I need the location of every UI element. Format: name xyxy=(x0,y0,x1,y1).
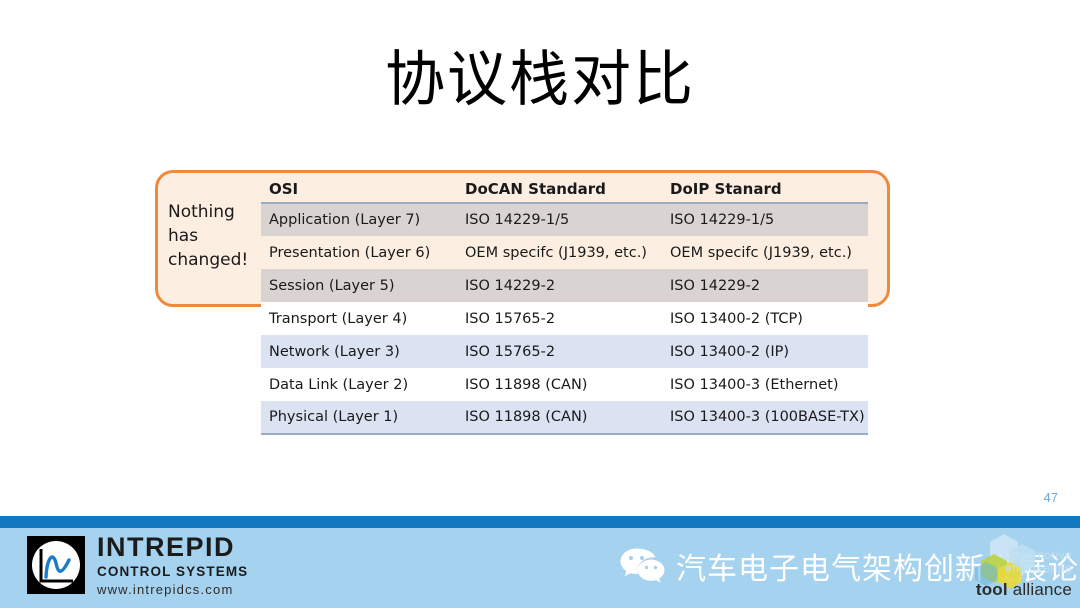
intrepid-website-url: www.intrepidcs.com xyxy=(97,583,248,596)
cell-doip: ISO 14229-1/5 xyxy=(662,203,868,236)
cell-osi: Session (Layer 5) xyxy=(261,269,457,302)
table-row: Session (Layer 5) ISO 14229-2 ISO 14229-… xyxy=(261,269,868,302)
column-header-doip: DoIP Stanard xyxy=(662,176,868,203)
cell-docan: ISO 11898 (CAN) xyxy=(457,368,662,401)
cell-docan: OEM specifc (J1939, etc.) xyxy=(457,236,662,269)
tool-alliance-tagline-line2: engineering xyxy=(1005,563,1072,576)
cell-docan: ISO 14229-1/5 xyxy=(457,203,662,236)
cell-doip: ISO 13400-3 (Ethernet) xyxy=(662,368,868,401)
highlight-note-text: Nothing has changed! xyxy=(168,200,264,272)
cell-docan: ISO 15765-2 xyxy=(457,335,662,368)
table-header-row: OSI DoCAN Standard DoIP Stanard xyxy=(261,176,868,203)
wechat-icon xyxy=(618,546,666,586)
table-row: Transport (Layer 4) ISO 15765-2 ISO 1340… xyxy=(261,302,868,335)
intrepid-brand-subtitle: CONTROL SYSTEMS xyxy=(97,565,248,579)
tool-alliance-name: tool alliance xyxy=(976,580,1072,600)
cell-osi: Transport (Layer 4) xyxy=(261,302,457,335)
cell-docan: ISO 14229-2 xyxy=(457,269,662,302)
cell-doip: ISO 13400-2 (IP) xyxy=(662,335,868,368)
cell-docan: ISO 11898 (CAN) xyxy=(457,401,662,434)
footer-band: INTREPID CONTROL SYSTEMS www.intrepidcs.… xyxy=(0,528,1080,608)
table-row: Presentation (Layer 6) OEM specifc (J193… xyxy=(261,236,868,269)
intrepid-brand-name: INTREPID xyxy=(97,534,248,561)
column-header-docan: DoCAN Standard xyxy=(457,176,662,203)
table-row: Application (Layer 7) ISO 14229-1/5 ISO … xyxy=(261,203,868,236)
table-row: Physical (Layer 1) ISO 11898 (CAN) ISO 1… xyxy=(261,401,868,434)
footer-divider-bar xyxy=(0,516,1080,528)
page-number: 47 xyxy=(1044,490,1058,505)
cell-osi: Network (Layer 3) xyxy=(261,335,457,368)
cell-doip: OEM specifc (J1939, etc.) xyxy=(662,236,868,269)
tool-alliance-tagline-line1: automotive xyxy=(1005,550,1072,563)
intrepid-waveform-icon xyxy=(27,536,85,594)
cell-doip: ISO 14229-2 xyxy=(662,269,868,302)
tool-alliance-name-rest: alliance xyxy=(1008,580,1072,599)
tool-alliance-logo: automotive engineering tool alliance xyxy=(934,532,1074,606)
column-header-osi: OSI xyxy=(261,176,457,203)
cell-osi: Physical (Layer 1) xyxy=(261,401,457,434)
tool-alliance-tagline: automotive engineering xyxy=(1005,550,1072,576)
protocol-stack-comparison-table: OSI DoCAN Standard DoIP Stanard Applicat… xyxy=(261,176,868,435)
cell-osi: Application (Layer 7) xyxy=(261,203,457,236)
cell-osi: Presentation (Layer 6) xyxy=(261,236,457,269)
intrepid-wordmark: INTREPID CONTROL SYSTEMS www.intrepidcs.… xyxy=(97,534,248,596)
tool-alliance-name-bold: tool xyxy=(976,580,1008,599)
cell-doip: ISO 13400-2 (TCP) xyxy=(662,302,868,335)
table-row: Network (Layer 3) ISO 15765-2 ISO 13400-… xyxy=(261,335,868,368)
page-title: 协议栈对比 xyxy=(0,44,1080,116)
cell-docan: ISO 15765-2 xyxy=(457,302,662,335)
cell-doip: ISO 13400-3 (100BASE-TX) xyxy=(662,401,868,434)
table-row: Data Link (Layer 2) ISO 11898 (CAN) ISO … xyxy=(261,368,868,401)
cell-osi: Data Link (Layer 2) xyxy=(261,368,457,401)
intrepid-logo: INTREPID CONTROL SYSTEMS www.intrepidcs.… xyxy=(27,534,248,596)
